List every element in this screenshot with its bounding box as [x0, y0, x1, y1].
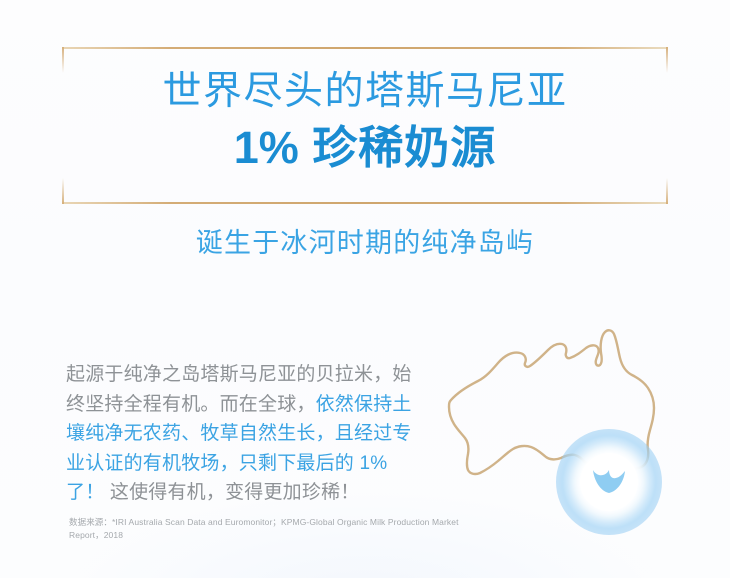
- frame-corner-bottom-right: [666, 178, 668, 204]
- subheadline: 诞生于冰河时期的纯净岛屿: [0, 224, 730, 262]
- headline-percent-label: 珍稀奶源: [299, 122, 497, 173]
- body-segment-tail: 这使得有机，变得更加珍稀！: [104, 482, 359, 503]
- tasmania-island-icon: [590, 467, 628, 497]
- frame-bottom-rule: [62, 202, 668, 204]
- body-paragraph: 起源于纯净之岛塔斯马尼亚的贝拉米，始终坚持全程有机。而在全球，依然保持土壤纯净无…: [66, 360, 418, 508]
- headline-line-2: 1% 珍稀奶源: [0, 120, 730, 176]
- tasmania-marker: [572, 445, 646, 519]
- australia-map-illustration: [424, 318, 692, 530]
- frame-top-rule: [62, 47, 668, 49]
- headline-block: 世界尽头的塔斯马尼亚 1% 珍稀奶源: [0, 68, 730, 176]
- poster-canvas: 世界尽头的塔斯马尼亚 1% 珍稀奶源 诞生于冰河时期的纯净岛屿 起源于纯净之岛塔…: [0, 0, 730, 578]
- headline-percent-value: 1%: [234, 122, 299, 173]
- frame-corner-bottom-left: [62, 178, 64, 204]
- headline-line-1: 世界尽头的塔斯马尼亚: [0, 68, 730, 116]
